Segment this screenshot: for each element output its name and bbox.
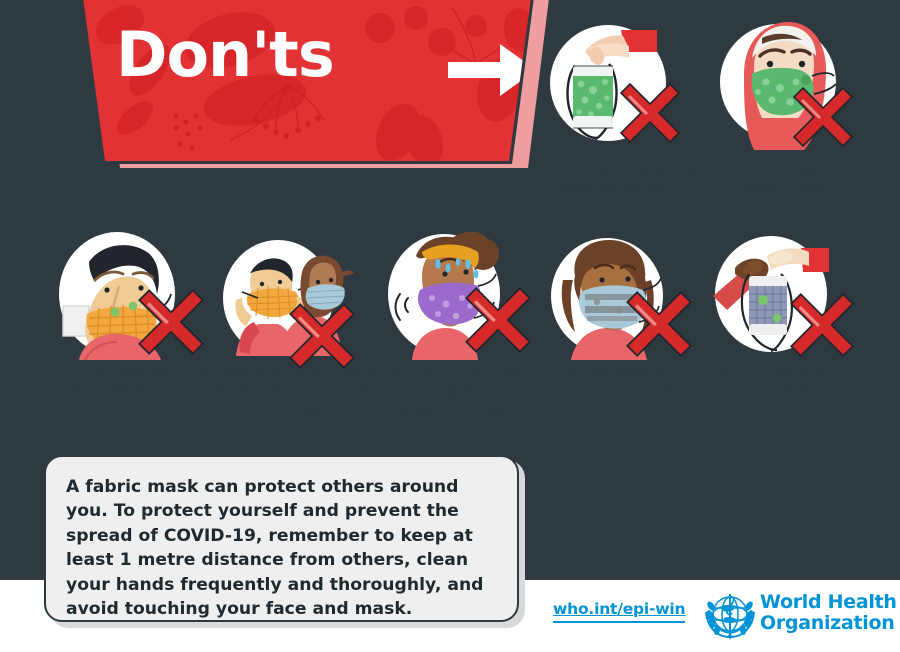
item-hard-to-breathe — [382, 228, 532, 360]
callout-box: A fabric mask can protect others around … — [44, 455, 519, 622]
page-title: Don'ts — [116, 24, 334, 86]
item-mask-damaged — [545, 18, 695, 158]
item-dirty-wet-mask — [545, 236, 690, 360]
caption-dirty-wet-mask: Do not wear a dirty or wet mask — [533, 365, 693, 401]
red-cross-icon — [462, 284, 534, 356]
epi-win-link[interactable]: who.int/epi-win — [553, 600, 685, 623]
red-cross-icon — [617, 80, 683, 146]
item-remove-mask-near-people — [212, 240, 362, 360]
who-organization-name: World Health Organization — [760, 592, 897, 635]
red-cross-icon — [623, 288, 695, 360]
caption-loose-mask: Do not wear a loose mask — [700, 160, 870, 196]
callout-text: A fabric mask can protect others around … — [46, 457, 517, 622]
poster-root: Don'ts — [0, 0, 900, 652]
header-banner: Don'ts — [80, 0, 550, 172]
red-cross-icon — [787, 290, 857, 360]
red-cross-icon — [790, 84, 856, 150]
caption-hard-to-breathe: Do not use a mask that is difficult to b… — [370, 365, 540, 419]
caption-remove-mask-near-people: Do not remove the mask where there are p… — [188, 365, 388, 419]
item-share-mask — [705, 232, 855, 362]
item-loose-mask — [710, 14, 860, 159]
caption-share-mask: Do not share your mask with others — [700, 365, 860, 401]
banner-body: Don'ts — [80, 0, 550, 170]
item-mask-under-nose — [55, 228, 205, 360]
caption-mask-damaged: Do not use a mask that looks damaged — [518, 160, 710, 196]
red-cross-icon — [286, 300, 358, 372]
red-cross-icon — [135, 286, 207, 358]
